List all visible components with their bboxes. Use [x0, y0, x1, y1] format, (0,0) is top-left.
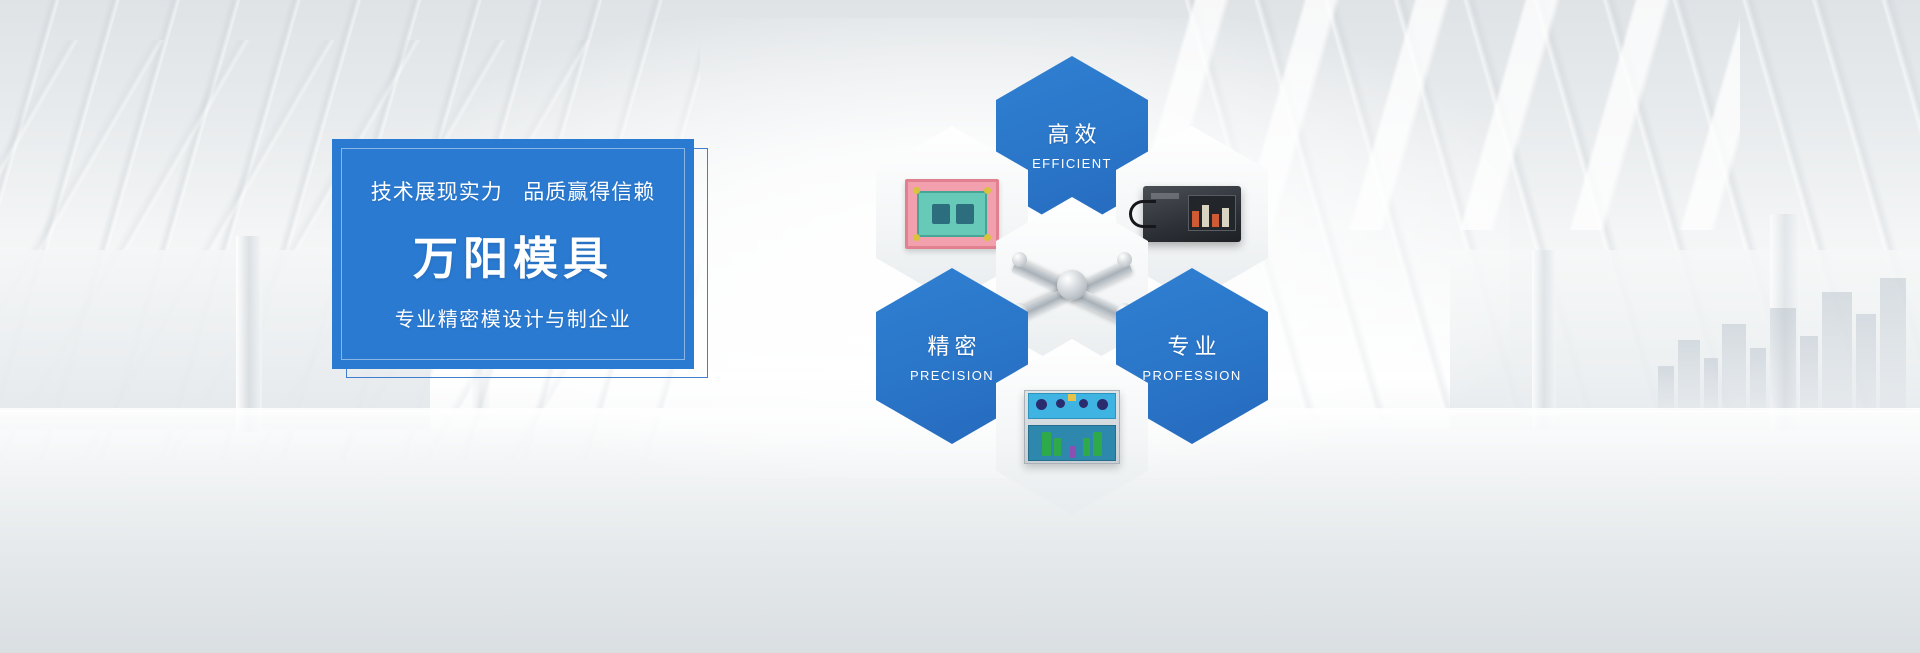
hexagon-cluster: 高效 EFFICIENT [872, 56, 1272, 516]
city-skyline-silhouette [1500, 260, 1920, 410]
card-content: 技术展现实力 品质赢得信赖 万阳模具 专业精密模设计与制企业 [332, 139, 694, 369]
pillar-left [236, 236, 262, 432]
hero-banner: 技术展现实力 品质赢得信赖 万阳模具 专业精密模设计与制企业 高效 EFFICI… [0, 0, 1920, 653]
hexagon-efficient-en: EFFICIENT [1032, 156, 1112, 171]
brand-title: 万阳模具 [413, 222, 613, 287]
hexagon-profession-cn: 专业 [1162, 329, 1221, 361]
hexagon-precision-en: PRECISION [910, 368, 994, 383]
card-sub-tagline: 专业精密模设计与制企业 [395, 303, 632, 332]
hexagon-profession-en: PROFESSION [1142, 368, 1241, 383]
hexagon-efficient-cn: 高效 [1042, 117, 1101, 149]
hexagon-precision-cn: 精密 [922, 329, 981, 361]
card-tagline: 技术展现实力 品质赢得信赖 [371, 176, 656, 206]
headline-card: 技术展现实力 品质赢得信赖 万阳模具 专业精密模设计与制企业 [332, 139, 694, 369]
